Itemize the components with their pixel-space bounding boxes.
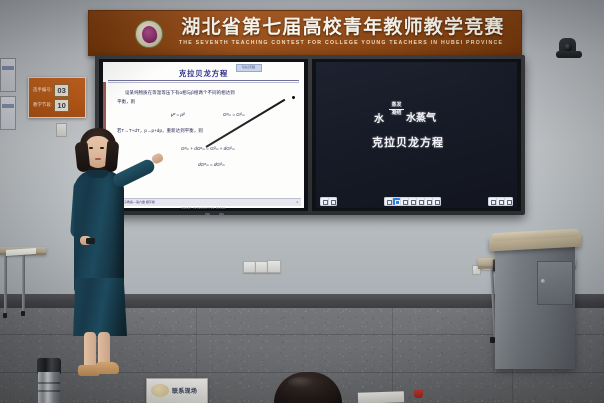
- panel-brand-label: SMART INTERACTIVE PANEL: [181, 207, 226, 210]
- lotus-emblem-icon: [135, 20, 163, 48]
- home-icon[interactable]: [329, 198, 336, 205]
- left-table-foot: [21, 311, 25, 316]
- select-tool-icon[interactable]: [393, 198, 400, 205]
- flask-band: [38, 390, 60, 392]
- lectern-control-panel[interactable]: [537, 261, 573, 305]
- power-button[interactable]: [205, 213, 210, 215]
- slide-divider-thin: [108, 82, 299, 83]
- slide-divider: [108, 80, 299, 81]
- redo-icon[interactable]: [497, 198, 504, 205]
- digital-whiteboard[interactable]: 水 蒸发 凝结 水蒸气 克拉贝龙方程: [316, 62, 517, 208]
- poster-band: [2, 104, 14, 108]
- slide-title: 克拉贝龙方程: [103, 68, 304, 79]
- sign-label-contestant: 选手编号:: [33, 87, 52, 93]
- ceiling-camera-icon: [556, 38, 582, 60]
- presentation-clicker-icon: [86, 238, 95, 244]
- presenter-dress-top: [74, 170, 124, 295]
- classroom-photo: 湖北省第七届高校青年教师教学竞赛 THE SEVENTH TEACHING CO…: [0, 0, 604, 403]
- competition-banner: 湖北省第七届高校青年教师教学竞赛 THE SEVENTH TEACHING CO…: [88, 10, 522, 56]
- audience-hair-highlight: [288, 377, 314, 388]
- foreground-cup: [414, 390, 423, 398]
- slide-corner-tag: 知识点回顾: [236, 64, 262, 72]
- lectern-lock-knob[interactable]: [541, 279, 545, 283]
- whiteboard-panel[interactable]: 水 蒸发 凝结 水蒸气 克拉贝龙方程: [312, 59, 521, 211]
- foreground-papers: [358, 391, 404, 403]
- slide-body-line: 平衡，则: [117, 99, 135, 105]
- menu-icon[interactable]: [321, 198, 328, 205]
- toolbar-right-group[interactable]: [488, 197, 513, 206]
- slide-equation: dGᵅₘ = dGᵝₘ: [198, 162, 225, 168]
- handwriting-equilibrium-arrows: 蒸发 凝结: [389, 102, 404, 116]
- handwriting-fraction-bottom: 凝结: [391, 110, 401, 116]
- whiteboard-toolbar[interactable]: [316, 197, 517, 206]
- eraser-tool-icon[interactable]: [409, 198, 416, 205]
- placard-seal-icon: [151, 384, 169, 397]
- wall-switch-plate[interactable]: [267, 260, 281, 273]
- presenter-dress-skirt: [72, 278, 127, 336]
- handwriting-fraction-top: 蒸发: [391, 102, 401, 108]
- sign-label-segment: 教学节段:: [33, 102, 52, 108]
- sign-row-segment: 教学节段: 10: [33, 99, 82, 111]
- wall-poster-lower: [0, 96, 16, 130]
- dual-interactive-display[interactable]: 克拉贝龙方程 知识点回顾 设某纯物质在等温等压下有α相与β相两个不同的相达到 平…: [95, 55, 525, 215]
- poster-band: [2, 66, 14, 70]
- page-tool-icon[interactable]: [425, 198, 432, 205]
- undo-icon[interactable]: [489, 198, 496, 205]
- presenter: [56, 128, 152, 380]
- close-icon[interactable]: [505, 198, 512, 205]
- teaching-lectern: [489, 229, 581, 369]
- left-table-foot: [3, 313, 7, 318]
- left-table-leg: [22, 255, 25, 315]
- sign-value-contestant: 03: [54, 84, 68, 97]
- presenter-eye: [89, 147, 93, 149]
- slide-body-line: 设某纯物质在等温等压下有α相与β相两个不同的相达到: [125, 90, 235, 96]
- more-tool-icon[interactable]: [433, 198, 440, 205]
- pointer-tip: [292, 96, 295, 99]
- pen-tool-icon[interactable]: [385, 198, 392, 205]
- flask-band: [38, 382, 60, 384]
- handwriting-product: 水蒸气: [406, 109, 436, 124]
- camera-mount: [556, 51, 582, 58]
- slide-equation: μᵅ = μᵝ: [171, 112, 185, 117]
- contestant-info-sign: 选手编号: 03 教学节段: 10: [28, 77, 86, 118]
- handwriting-heading: 克拉贝龙方程: [372, 134, 444, 150]
- placard-text: 联系现场: [172, 386, 197, 395]
- sign-value-segment: 10: [54, 99, 68, 112]
- banner-title-cn: 湖北省第七届高校青年教师教学竞赛: [173, 17, 513, 39]
- name-placard: 联系现场: [146, 378, 208, 403]
- floor-seam: [392, 308, 393, 403]
- sign-row-contestant: 选手编号: 03: [33, 84, 82, 96]
- presenter-hair-right: [105, 141, 120, 173]
- shape-tool-icon[interactable]: [401, 198, 408, 205]
- slide-corner-tag-label: 知识点回顾: [237, 65, 261, 71]
- lotus-petal-shape: [140, 24, 158, 44]
- presenter-eye: [100, 147, 104, 149]
- text-tool-icon[interactable]: [417, 198, 424, 205]
- presenter-mouth: [95, 158, 101, 160]
- presenter-right-arm: [111, 157, 157, 189]
- left-table-leg: [4, 255, 7, 317]
- wall-poster-upper: [0, 58, 16, 92]
- handwriting-reactant: 水: [374, 110, 384, 125]
- slide-page-number: 1: [296, 199, 298, 206]
- presenter-right-shoe: [96, 362, 119, 374]
- source-button[interactable]: [219, 213, 224, 215]
- banner-title-en: THE SEVENTH TEACHING CONTEST FOR COLLEGE…: [165, 40, 517, 46]
- camera-lens: [564, 43, 572, 51]
- panel-bezel-buttons[interactable]: [205, 213, 224, 402]
- toolbar-center-group[interactable]: [384, 197, 441, 206]
- toolbar-left-group[interactable]: [320, 197, 337, 206]
- slide-equation: Gᵅₘ = Gᵝₘ: [223, 112, 245, 118]
